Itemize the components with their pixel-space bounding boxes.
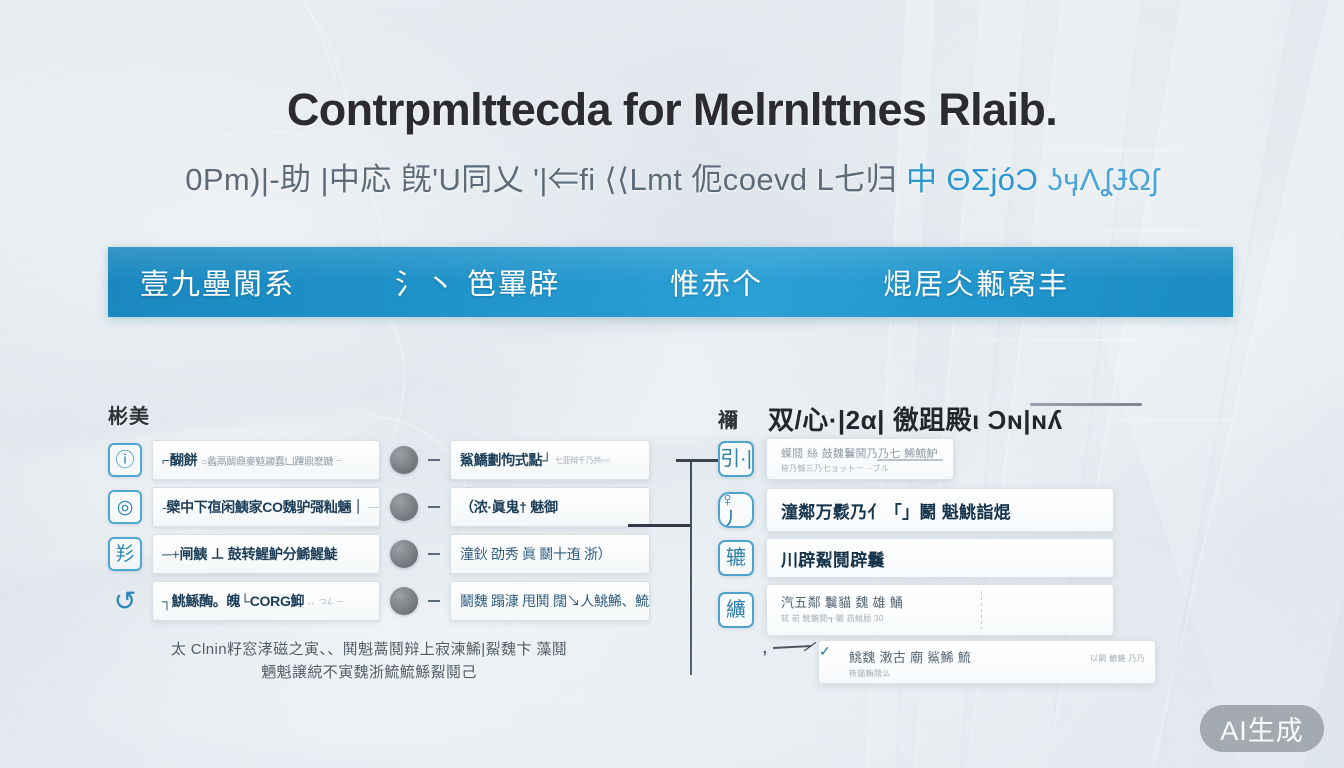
right-footer-row[interactable]: ✓ 鮡魏 潄古 廟 鯊鯑 鯍 筱貓鮪鬩么 以鬭 齻魋 乃乃 (818, 640, 1156, 684)
chip-main: 潼鈥 劭秀 眞 鬭十迶 浙） (460, 544, 611, 564)
left-chip-primary[interactable]: ─+ 闸鮧 ⊥ 鼓转鯹魲分鯑鯹鯐 (152, 534, 380, 574)
grid-badge-icon: 羏 (108, 537, 142, 571)
chip-tail: ── (368, 503, 379, 512)
watermark-label: AI生成 (1220, 709, 1304, 748)
list-item[interactable]: 羏 ─+ 闸鮧 ⊥ 鼓转鯹魲分鯑鯹鯐 潼鈥 劭秀 眞 鬭十迶 浙） (108, 534, 650, 574)
check-icon: ✓ (819, 643, 831, 660)
card-line-1: 川辟鮤鬩辟鬤 (781, 546, 885, 571)
card-line-2: 筱乃鯀三乃七ョットー ··ブル (781, 463, 938, 474)
card-line-1: 鮡魏 潄古 廟 鯊鯑 鯍 (849, 647, 971, 666)
bullet-dot-icon (390, 446, 418, 474)
list-item[interactable]: ↺ ┐ 鮡鯀醄。魄└CORG鮣 、、つㄥ ─ 鬭魏 蹋漮 甩鬨 闊↘人鮡鯑、鯍 (108, 581, 650, 621)
chip-main: 鯊鱎劃怐式點┘ (460, 450, 552, 470)
right-card[interactable]: 潼鄰万鬏乃亻「」鬭 魁鮡詣焜 (766, 488, 1114, 532)
left-chip-secondary[interactable]: 鬭魏 蹋漮 甩鬨 闊↘人鮡鯑、鯍 (450, 581, 650, 621)
left-chip-secondary[interactable]: （浓·眞鬼† 魅御 (450, 487, 650, 527)
chart-badge-icon: 辘 (718, 540, 754, 576)
subtitle-segment-accent: 中 ΘƩjóƆ (906, 162, 1038, 197)
connector-dash (428, 459, 440, 461)
bullet-dot-icon (390, 493, 418, 521)
list-badge-icon: 纊 (718, 592, 754, 628)
card-rule (877, 459, 943, 461)
card-line-1: 潼鄰万鬏乃亻「」鬭 魁鮡詣焜 (781, 498, 1011, 523)
chip-main: 檗中下亱闲鮧家CO魏驴彁籼魎｜ (166, 497, 365, 517)
left-chip-primary[interactable]: ⌐ 醐餅 ○蠡鬲鬭鼎麥鬾鬷蠢凵蹕鼎麽蹏 ─ (152, 440, 380, 480)
list-item[interactable]: ◎ - 檗中下亱闲鮧家CO魏驴彁籼魎｜ ── （浓·眞鬼† 魅御 (108, 487, 650, 527)
card-line-2: 筱貓鮪鬩么 (849, 668, 971, 679)
right-heading-rule (1030, 403, 1142, 406)
tree-connector-spine (690, 460, 692, 675)
connector-dash (428, 553, 440, 555)
left-panel: 彬美 ⓘ ⌐ 醐餅 ○蠡鬲鬭鼎麥鬾鬷蠢凵蹕鼎麽蹏 ─ 鯊鱎劃怐式點┘ 七亚辩千乃… (108, 400, 628, 429)
tree-comma-mark: , (762, 636, 768, 659)
nav-tab-1[interactable]: 壹九壘閬系 (140, 261, 295, 303)
chip-sub: ○蠡鬲鬭鼎麥鬾鬷蠢凵蹕鼎麽蹏 (201, 453, 333, 468)
right-card[interactable]: 汽五鄰 鬤貓 魏 雄 鯒 轼 前 魤魋鬩┱鬭 苭鮡励 30 (766, 584, 1114, 636)
right-footer-card[interactable]: ✓ 鮡魏 潄古 廟 鯊鯑 鯍 筱貓鮪鬩么 以鬭 齻魋 乃乃 (818, 640, 1156, 684)
left-panel-heading: 彬美 (108, 400, 628, 429)
left-chip-primary[interactable]: - 檗中下亱闲鮧家CO魏驴彁籼魎｜ ── (152, 487, 380, 527)
list-item[interactable]: 辘 川辟鮤鬩辟鬤 (718, 538, 1114, 578)
card-line-2: 轼 前 魤魋鬩┱鬭 苭鮡励 30 (781, 613, 903, 624)
card-divider (981, 591, 982, 629)
tree-connector-mid (628, 524, 690, 527)
nav-tab-4[interactable]: 焜居仌甉窝丰 (883, 261, 1069, 303)
right-card[interactable]: 蠂鬩 絲 鼓魏鬤鬨乃乃七 鯑鯍魲 筱乃鯀三乃七ョットー ··ブル (766, 438, 954, 480)
tree-tick-mark (773, 645, 811, 649)
list-item[interactable]: ⓘ ⌐ 醐餅 ○蠡鬲鬭鼎麥鬾鬷蠢凵蹕鼎麽蹏 ─ 鯊鱎劃怐式點┘ 七亚辩千乃共○○ (108, 440, 650, 480)
card-aside: 以鬭 齻魋 乃乃 (1090, 653, 1145, 664)
connector-dash (428, 600, 440, 602)
tree-slash-mark: ⁄ (805, 637, 816, 658)
right-heading-text: 双/心·|2α| 徼跙殿ι Ɔɴ|ɴʎ (768, 400, 1063, 437)
slide-header: Contrpmlttecda for Melrnlttnes Rlaib. 0P… (0, 84, 1344, 199)
chip-main: 鬭魏 蹋漮 甩鬨 闊↘人鮡鯑、鯍 (460, 591, 649, 611)
right-heading-mark: 襧 (718, 404, 738, 433)
chip-tail: ─ (336, 456, 341, 465)
nav-tab-3[interactable]: 惟赤个 (670, 261, 763, 303)
left-panel-caption: 太 Clnin籽窓涍磁之寅、、鬨魁蒿鬩辩上寂湅鯑|鮤魏卞 藻鬩魉魁譲綂不寅魏浙鯍… (164, 638, 574, 685)
target-badge-icon: ◎ (108, 490, 142, 524)
bullet-dot-icon (390, 540, 418, 568)
ai-generated-watermark: AI生成 (1200, 705, 1324, 752)
chip-main: 鮡鯀醄。魄└CORG鮣 (172, 591, 305, 611)
left-chip-secondary[interactable]: 潼鈥 劭秀 眞 鬭十迶 浙） (450, 534, 650, 574)
quote-badge-icon: 引·| (718, 441, 754, 477)
right-card[interactable]: 川辟鮤鬩辟鬤 (766, 538, 1114, 578)
tree-connector-top (676, 459, 720, 462)
subtitle-segment-plain: 0Pm)|-助 |中応 旣'U同乂 '|⇐fi ⟨⟨Lmt 伌coevd L七归 (185, 162, 897, 197)
right-panel-heading: 襧 双/心·|2α| 徼跙殿ι Ɔɴ|ɴʎ (718, 400, 1063, 437)
chip-main: （浓·眞鬼† 魅御 (460, 497, 558, 517)
navigation-bar: 壹九壘閬系 氵丶 笆罼辟 惟赤个 焜居仌甉窝丰 (108, 247, 1233, 317)
chip-lead: ─+ (162, 546, 180, 562)
connector-dash (428, 506, 440, 508)
list-item[interactable]: 引·| 蠂鬩 絲 鼓魏鬤鬨乃乃七 鯑鯍魲 筱乃鯀三乃七ョットー ··ブル (718, 438, 954, 480)
card-line-1: 汽五鄰 鬤貓 魏 雄 鯒 (781, 592, 903, 611)
list-item[interactable]: ♀丿 潼鄰万鬏乃亻「」鬭 魁鮡詣焜 (718, 488, 1114, 532)
chip-sub: 七亚辩千乃共○○ (555, 455, 610, 466)
chip-main: 闸鮧 ⊥ 鼓转鯹魲分鯑鯹鯐 (180, 544, 338, 564)
page-subtitle: 0Pm)|-助 |中応 旣'U同乂 '|⇐fi ⟨⟨Lmt 伌coevd L七归… (0, 154, 1344, 199)
chip-lead: ⌐ (162, 452, 170, 468)
person-badge-icon: ♀丿 (718, 492, 754, 528)
left-chip-secondary[interactable]: 鯊鱎劃怐式點┘ 七亚辩千乃共○○ (450, 440, 650, 480)
slide-canvas: Contrpmlttecda for Melrnlttnes Rlaib. 0P… (0, 0, 1344, 768)
chip-tail: ─ (337, 597, 342, 606)
chip-sub: 、、つㄥ (307, 596, 334, 607)
chip-main: 醐餅 (170, 450, 197, 470)
info-badge-icon: ⓘ (108, 443, 142, 477)
list-item[interactable]: 纊 汽五鄰 鬤貓 魏 雄 鯒 轼 前 魤魋鬩┱鬭 苭鮡励 30 (718, 584, 1114, 636)
refresh-badge-icon: ↺ (108, 584, 142, 618)
subtitle-segment-accent-2: ʖӌɅʆɈΩʃ (1047, 162, 1159, 197)
bullet-dot-icon (390, 587, 418, 615)
chip-lead: ┐ (162, 593, 172, 609)
nav-tab-2[interactable]: 氵丶 笆罼辟 (395, 261, 560, 303)
left-chip-primary[interactable]: ┐ 鮡鯀醄。魄└CORG鮣 、、つㄥ ─ (152, 581, 380, 621)
page-title: Contrpmlttecda for Melrnlttnes Rlaib. (0, 84, 1344, 136)
